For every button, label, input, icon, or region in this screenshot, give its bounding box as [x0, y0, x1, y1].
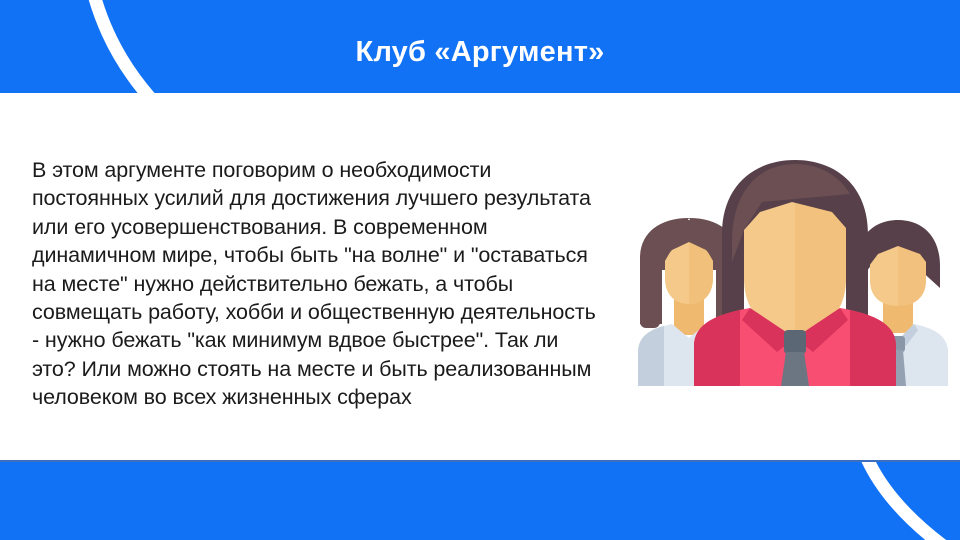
figure-man-center: [694, 160, 896, 386]
body-line: совмещать работу, хобби и общественную д…: [32, 298, 632, 326]
group-of-three-people-illustration: [632, 138, 952, 386]
body-line: - нужно бежать "как минимум вдвое быстре…: [32, 326, 632, 354]
body-line: человеком во всех жизненных сферах: [32, 383, 632, 411]
body-line: или его усовершенствования. В современно…: [32, 213, 632, 241]
body-line: В этом аргументе поговорим о необходимос…: [32, 156, 632, 184]
page-title: Клуб «Аргумент»: [0, 35, 960, 69]
body-line: динамичном мире, чтобы быть "на волне" и…: [32, 241, 632, 269]
body-paragraph: В этом аргументе поговорим о необходимос…: [32, 156, 632, 412]
footer-band: [0, 460, 960, 540]
footer-decorative-arc-icon: [0, 462, 960, 540]
presentation-slide: Клуб «Аргумент» В этом аргументе поговор…: [0, 0, 960, 540]
body-line: это? Или можно стоять на месте и быть ре…: [32, 355, 632, 383]
body-line: на месте" нужно действительно бежать, а …: [32, 270, 632, 298]
header-band: Клуб «Аргумент»: [0, 0, 960, 93]
body-line: постоянных усилий для достижения лучшего…: [32, 184, 632, 212]
